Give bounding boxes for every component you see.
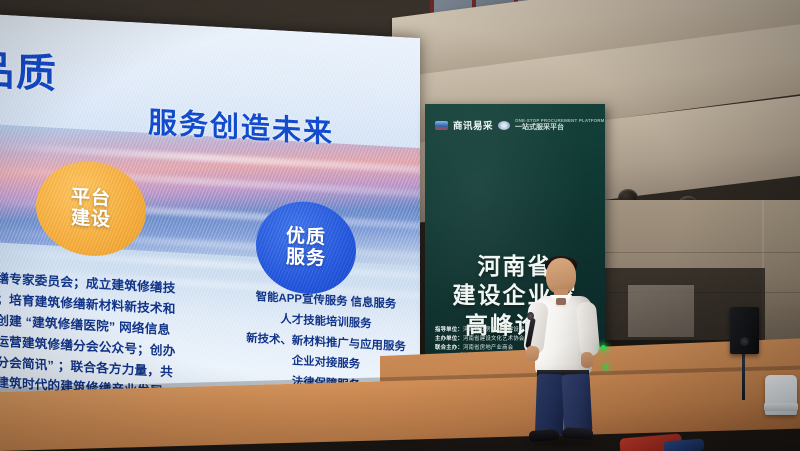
green-laser-dot [604, 365, 608, 369]
badge-line-2: 建设 [71, 208, 111, 232]
speaker-stand-pole [742, 352, 745, 400]
platform-logo-icon [498, 121, 510, 130]
conference-stage-photo: 品质 服务创造未来 平台 建设 优质 服务 建筑修缮专家委员会；成立建筑修缮技 … [0, 0, 800, 451]
presenter-right-arm [576, 301, 601, 357]
blue-item-foreground [664, 439, 705, 451]
organizer-name: 河南省房地产业商会 [463, 345, 513, 351]
led-corner-text: 品质 [0, 37, 58, 100]
brand-logo-icon [435, 121, 448, 130]
presenter-collar-opening [556, 298, 566, 305]
microphone-head-icon [527, 312, 534, 320]
led-display-screen: 品质 服务创造未来 平台 建设 优质 服务 建筑修缮专家委员会；成立建筑修缮技 … [0, 14, 420, 436]
banner-logo-row: 商讯易采 ONE-STOP PROCUREMENT PLATFORM 一站式服采… [435, 118, 604, 132]
far-wall-poster [628, 285, 694, 337]
badge-line-2: 服务 [286, 247, 326, 271]
organizer-role: 指导单位： [435, 327, 463, 333]
green-laser-dot [601, 345, 606, 350]
presenter [516, 258, 612, 444]
speaker-cone-icon [740, 337, 749, 346]
white-chair [765, 375, 797, 415]
organizer-row: 指导单位：河南省住房和城乡建设厅 [435, 326, 524, 335]
organizer-row: 主办单位：河南省建设文化艺术协会 [435, 335, 524, 344]
presenter-right-leg [561, 373, 592, 434]
organizer-role: 主办单位： [435, 336, 463, 342]
chair-seat [764, 403, 798, 411]
organizer-role: 联合主办： [435, 345, 463, 351]
badge-line-1: 优质 [286, 225, 326, 249]
platform-tagline-latin: ONE-STOP PROCUREMENT PLATFORM [515, 118, 604, 123]
pa-loudspeaker [730, 307, 759, 354]
platform-tagline: ONE-STOP PROCUREMENT PLATFORM 一站式服采平台 [515, 118, 604, 131]
presenter-left-leg [535, 374, 565, 437]
presenter-right-shoe [562, 427, 594, 440]
presenter-right-hand [581, 352, 593, 368]
badge-line-1: 平台 [71, 186, 111, 210]
brand-name: 商讯易采 [453, 118, 493, 132]
presenter-left-shoe [529, 429, 560, 442]
platform-tagline-cn: 一站式服采平台 [515, 124, 564, 131]
